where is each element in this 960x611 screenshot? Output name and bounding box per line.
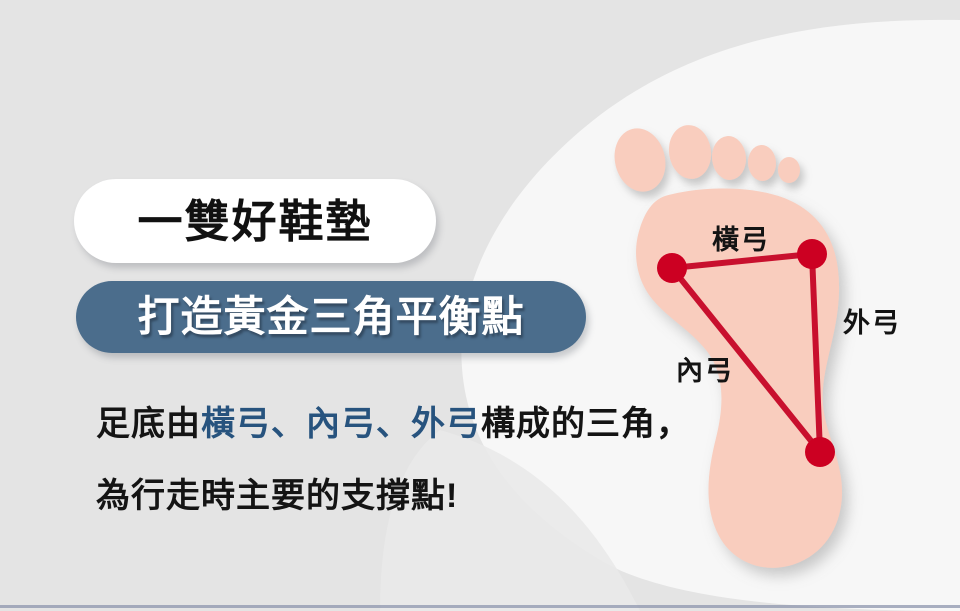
toes-group — [608, 122, 800, 197]
heel-point-marker — [805, 437, 835, 467]
outer-arch-label: 外弓 — [843, 310, 901, 337]
body-line-1-highlight: 橫弓、內弓、外弓 — [201, 405, 481, 443]
subtitle-text: 打造黃金三角平衡點 — [137, 296, 524, 338]
transverse-arch-label: 橫弓 — [712, 227, 770, 254]
title-text: 一雙好鞋墊 — [137, 199, 372, 244]
lateral-ball-point-marker — [797, 239, 827, 269]
little-toe-shape — [778, 157, 800, 183]
body-line-1: 足底由橫弓、內弓、外弓構成的三角， — [96, 388, 696, 460]
fourth-toe-shape — [747, 144, 777, 181]
medial-ball-point-marker — [657, 253, 687, 283]
infographic-poster: 橫弓 外弓 內弓 一雙好鞋墊 打造黃金三角平衡點 足底由橫弓、內弓、外弓構成的三… — [0, 0, 960, 611]
body-line-1-prefix: 足底由 — [96, 405, 201, 443]
second-toe-shape — [665, 122, 714, 181]
big-toe-shape — [608, 123, 672, 197]
third-toe-shape — [710, 135, 748, 182]
body-copy: 足底由橫弓、內弓、外弓構成的三角， 為行走時主要的支撐點! — [96, 388, 696, 532]
body-line-1-suffix: 構成的三角， — [481, 405, 691, 443]
body-line-2: 為行走時主要的支撐點! — [96, 460, 696, 532]
inner-arch-label: 內弓 — [676, 358, 734, 385]
subtitle-pill: 打造黃金三角平衡點 — [76, 281, 586, 353]
title-pill: 一雙好鞋墊 — [74, 179, 436, 263]
